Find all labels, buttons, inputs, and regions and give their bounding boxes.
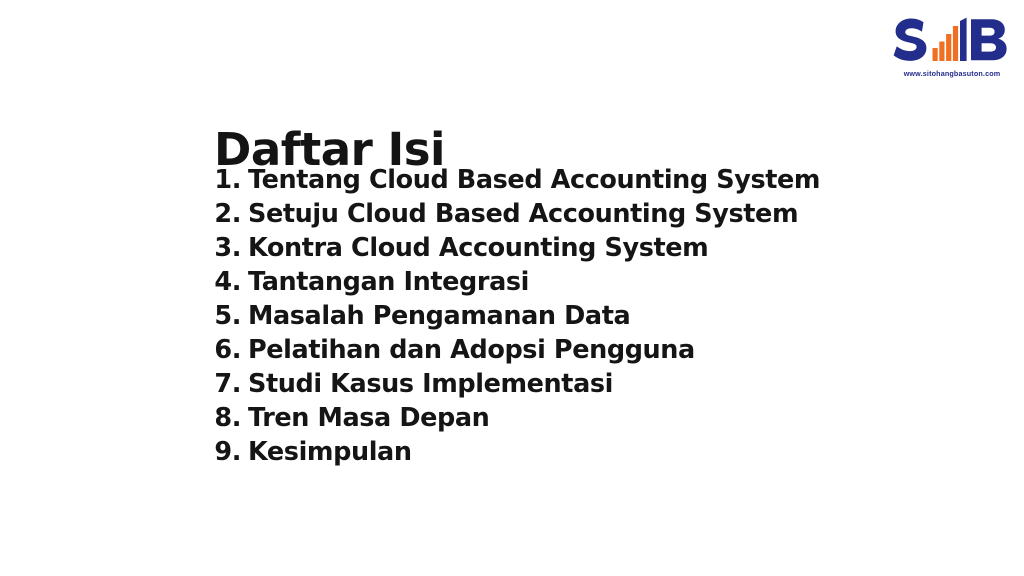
sb-logo-icon bbox=[893, 14, 1011, 66]
toc-item[interactable]: 1. Tentang Cloud Based Accounting System bbox=[211, 163, 911, 197]
toc-item-label: Studi Kasus Implementasi bbox=[248, 367, 613, 401]
toc-item-number: 7. bbox=[211, 367, 241, 401]
toc-item-label: Tren Masa Depan bbox=[248, 401, 489, 435]
toc-item[interactable]: 2. Setuju Cloud Based Accounting System bbox=[211, 197, 911, 231]
toc-item[interactable]: 7. Studi Kasus Implementasi bbox=[211, 367, 911, 401]
toc-item[interactable]: 4. Tantangan Integrasi bbox=[211, 265, 911, 299]
toc-item[interactable]: 5. Masalah Pengamanan Data bbox=[211, 299, 911, 333]
toc-item-number: 6. bbox=[211, 333, 241, 367]
logo-website-url: www.sitohangbasuton.com bbox=[893, 69, 1011, 78]
table-of-contents-list: 1. Tentang Cloud Based Accounting System… bbox=[211, 163, 911, 469]
toc-item-label: Tentang Cloud Based Accounting System bbox=[248, 163, 820, 197]
toc-item[interactable]: 6. Pelatihan dan Adopsi Pengguna bbox=[211, 333, 911, 367]
toc-item[interactable]: 3. Kontra Cloud Accounting System bbox=[211, 231, 911, 265]
toc-item-number: 9. bbox=[211, 435, 241, 469]
toc-item-label: Kesimpulan bbox=[248, 435, 412, 469]
toc-item-number: 5. bbox=[211, 299, 241, 333]
toc-item-label: Tantangan Integrasi bbox=[248, 265, 529, 299]
brand-logo: www.sitohangbasuton.com bbox=[893, 14, 1011, 82]
toc-item[interactable]: 8. Tren Masa Depan bbox=[211, 401, 911, 435]
slide-canvas: www.sitohangbasuton.com Daftar Isi 1. Te… bbox=[0, 0, 1024, 576]
toc-item-label: Kontra Cloud Accounting System bbox=[248, 231, 708, 265]
toc-item-label: Setuju Cloud Based Accounting System bbox=[248, 197, 798, 231]
toc-item-number: 1. bbox=[211, 163, 241, 197]
toc-item-number: 8. bbox=[211, 401, 241, 435]
toc-item-label: Pelatihan dan Adopsi Pengguna bbox=[248, 333, 695, 367]
toc-item-number: 2. bbox=[211, 197, 241, 231]
toc-item[interactable]: 9. Kesimpulan bbox=[211, 435, 911, 469]
toc-item-number: 4. bbox=[211, 265, 241, 299]
toc-item-label: Masalah Pengamanan Data bbox=[248, 299, 630, 333]
toc-item-number: 3. bbox=[211, 231, 241, 265]
